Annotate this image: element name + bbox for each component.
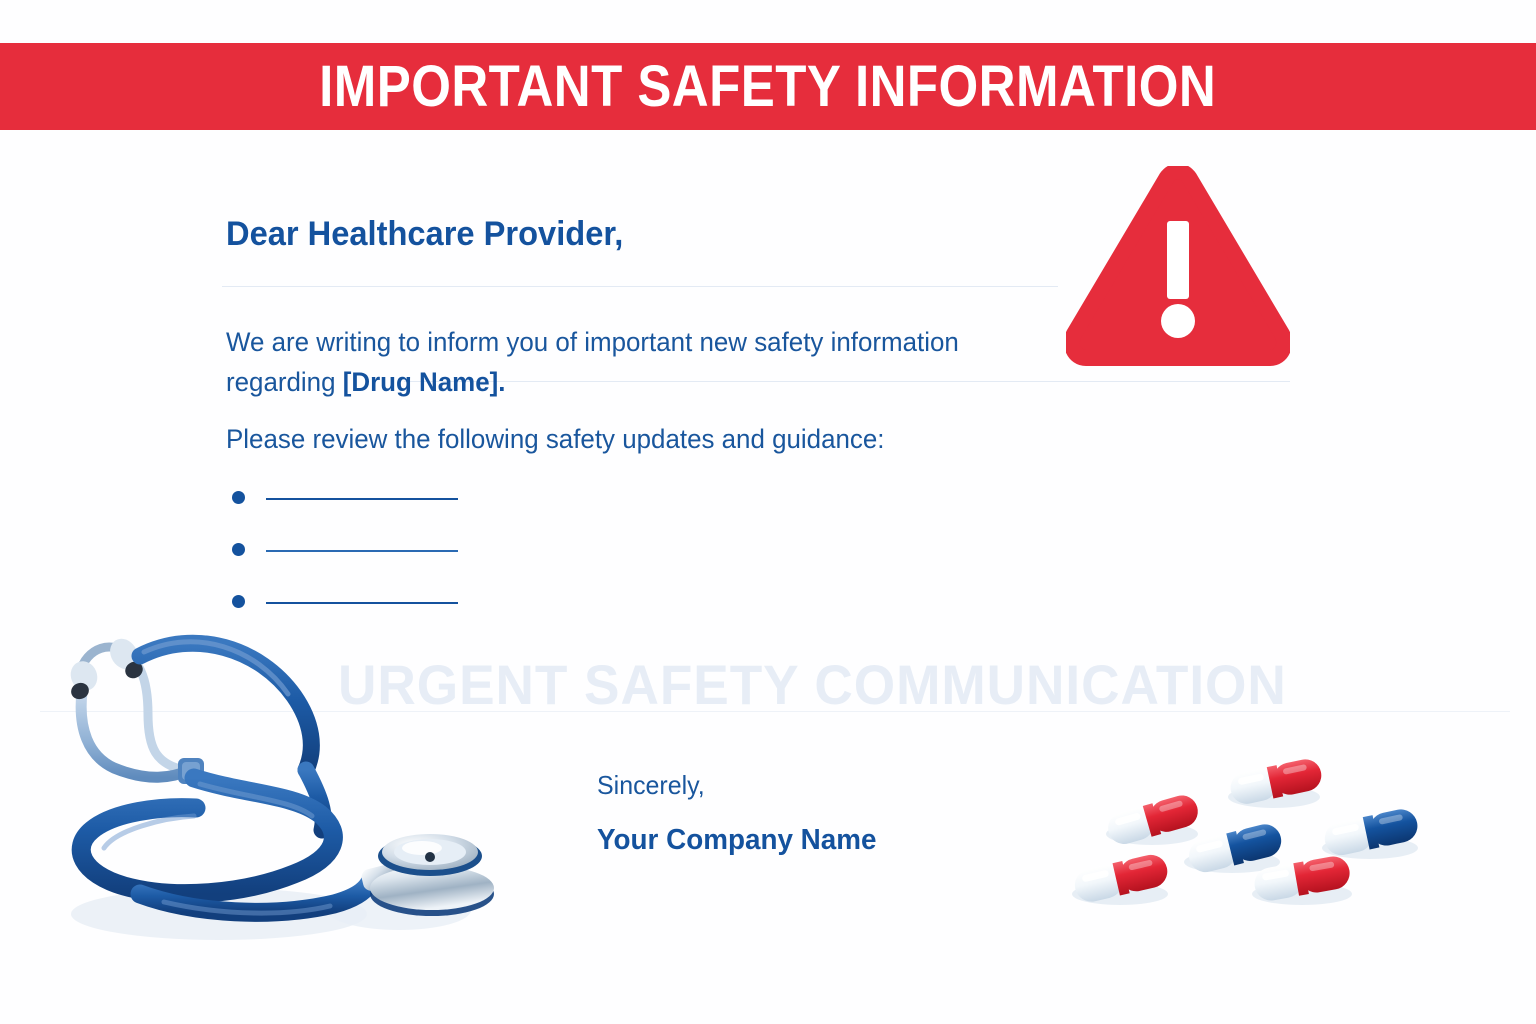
important-safety-banner: IMPORTANT SAFETY INFORMATION	[0, 43, 1536, 130]
eartip-left	[66, 657, 101, 702]
company-signature: Your Company Name	[597, 824, 876, 857]
bullet-dot-icon	[232, 491, 245, 504]
list-item	[232, 538, 492, 590]
stethoscope-illustration	[44, 618, 514, 948]
guidance-prompt: Please review the following safety updat…	[226, 424, 885, 455]
list-item	[232, 486, 492, 538]
bullet-blank-line[interactable]	[266, 498, 458, 500]
bullet-blank-line[interactable]	[266, 550, 458, 552]
bullet-blank-line[interactable]	[266, 602, 458, 604]
warning-triangle-icon	[1066, 166, 1290, 366]
drug-name-placeholder: [Drug Name].	[343, 367, 506, 397]
greeting-rule	[222, 286, 1058, 287]
bullet-dot-icon	[232, 595, 245, 608]
safety-letter-page: IMPORTANT SAFETY INFORMATION URGENT SAFE…	[0, 0, 1536, 1024]
capsules-illustration	[1052, 752, 1452, 922]
intro-text: We are writing to inform you of importan…	[226, 327, 959, 397]
banner-title: IMPORTANT SAFETY INFORMATION	[320, 58, 1217, 116]
bullet-dot-icon	[232, 543, 245, 556]
greeting-heading: Dear Healthcare Provider,	[226, 215, 623, 254]
intro-paragraph: We are writing to inform you of importan…	[226, 322, 1023, 402]
chestpiece	[370, 834, 494, 916]
closing-line: Sincerely,	[597, 770, 705, 801]
